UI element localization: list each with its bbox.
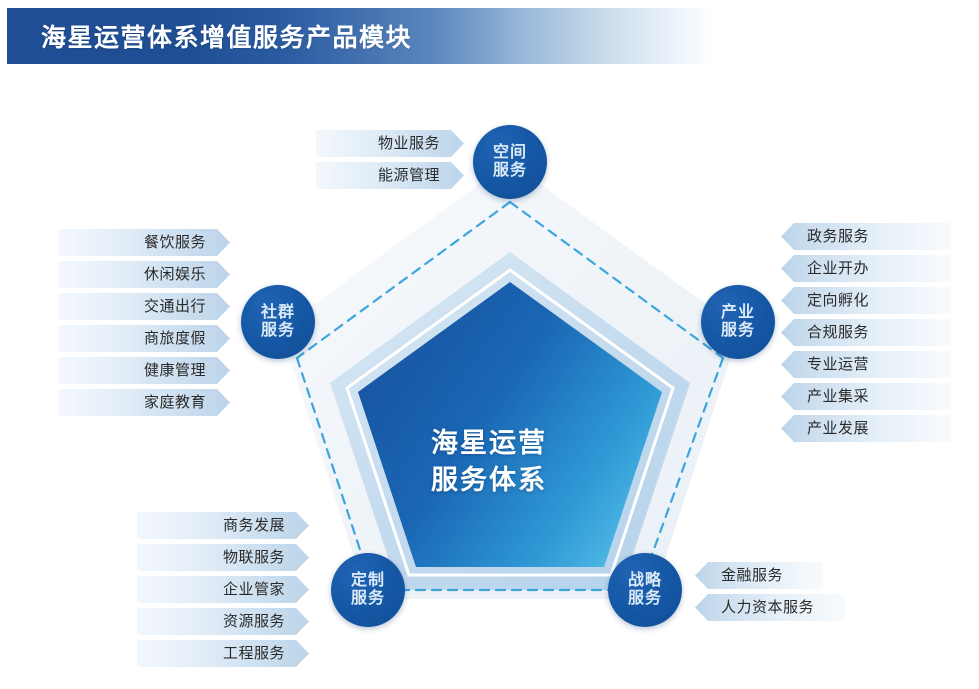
list-item[interactable]: 资源服务	[137, 608, 309, 635]
list-item[interactable]: 物业服务	[316, 130, 464, 157]
node-community-line1: 社群	[261, 304, 295, 322]
list-item[interactable]: 人力资本服务	[695, 594, 845, 621]
list-item[interactable]: 产业发展	[781, 415, 951, 442]
list-item[interactable]: 物联服务	[137, 544, 309, 571]
group-community-services: 餐饮服务 休闲娱乐 交通出行 商旅度假 健康管理 家庭教育	[58, 229, 230, 421]
node-community-services[interactable]: 社群 服务	[241, 285, 315, 359]
list-item[interactable]: 交通出行	[58, 293, 230, 320]
list-item[interactable]: 工程服务	[137, 640, 309, 667]
list-item[interactable]: 能源管理	[316, 162, 464, 189]
node-space-services[interactable]: 空间 服务	[473, 125, 547, 199]
group-custom-services: 商务发展 物联服务 企业管家 资源服务 工程服务	[137, 512, 309, 672]
list-item[interactable]: 商务发展	[137, 512, 309, 539]
list-item[interactable]: 产业集采	[781, 383, 951, 410]
list-item[interactable]: 家庭教育	[58, 389, 230, 416]
list-item[interactable]: 餐饮服务	[58, 229, 230, 256]
node-industry-line1: 产业	[721, 304, 755, 322]
node-custom-line2: 服务	[351, 590, 385, 608]
node-industry-services[interactable]: 产业 服务	[701, 285, 775, 359]
list-item[interactable]: 商旅度假	[58, 325, 230, 352]
node-custom-line1: 定制	[351, 572, 385, 590]
page-title: 海星运营体系增值服务产品模块	[41, 18, 412, 54]
node-strategy-line1: 战略	[628, 572, 662, 590]
node-space-line1: 空间	[493, 144, 527, 162]
node-custom-services[interactable]: 定制 服务	[331, 553, 405, 627]
list-item[interactable]: 休闲娱乐	[58, 261, 230, 288]
pentagon-diagram: 海星运营 服务体系 空间 服务 产业 服务 社群 服务 战略 服务 定制 服务 …	[0, 70, 979, 689]
group-space-services: 物业服务 能源管理	[316, 130, 464, 194]
list-item[interactable]: 健康管理	[58, 357, 230, 384]
list-item[interactable]: 金融服务	[695, 562, 823, 589]
group-strategy-services: 金融服务 人力资本服务	[695, 562, 845, 626]
list-item[interactable]: 政务服务	[781, 223, 951, 250]
node-strategy-services[interactable]: 战略 服务	[608, 553, 682, 627]
node-strategy-line2: 服务	[628, 590, 662, 608]
list-item[interactable]: 企业开办	[781, 255, 951, 282]
node-industry-line2: 服务	[721, 322, 755, 340]
list-item[interactable]: 合规服务	[781, 319, 951, 346]
group-industry-services: 政务服务 企业开办 定向孵化 合规服务 专业运营 产业集采 产业发展	[781, 223, 951, 447]
node-space-line2: 服务	[493, 162, 527, 180]
list-item[interactable]: 专业运营	[781, 351, 951, 378]
node-community-line2: 服务	[261, 322, 295, 340]
list-item[interactable]: 定向孵化	[781, 287, 951, 314]
list-item[interactable]: 企业管家	[137, 576, 309, 603]
